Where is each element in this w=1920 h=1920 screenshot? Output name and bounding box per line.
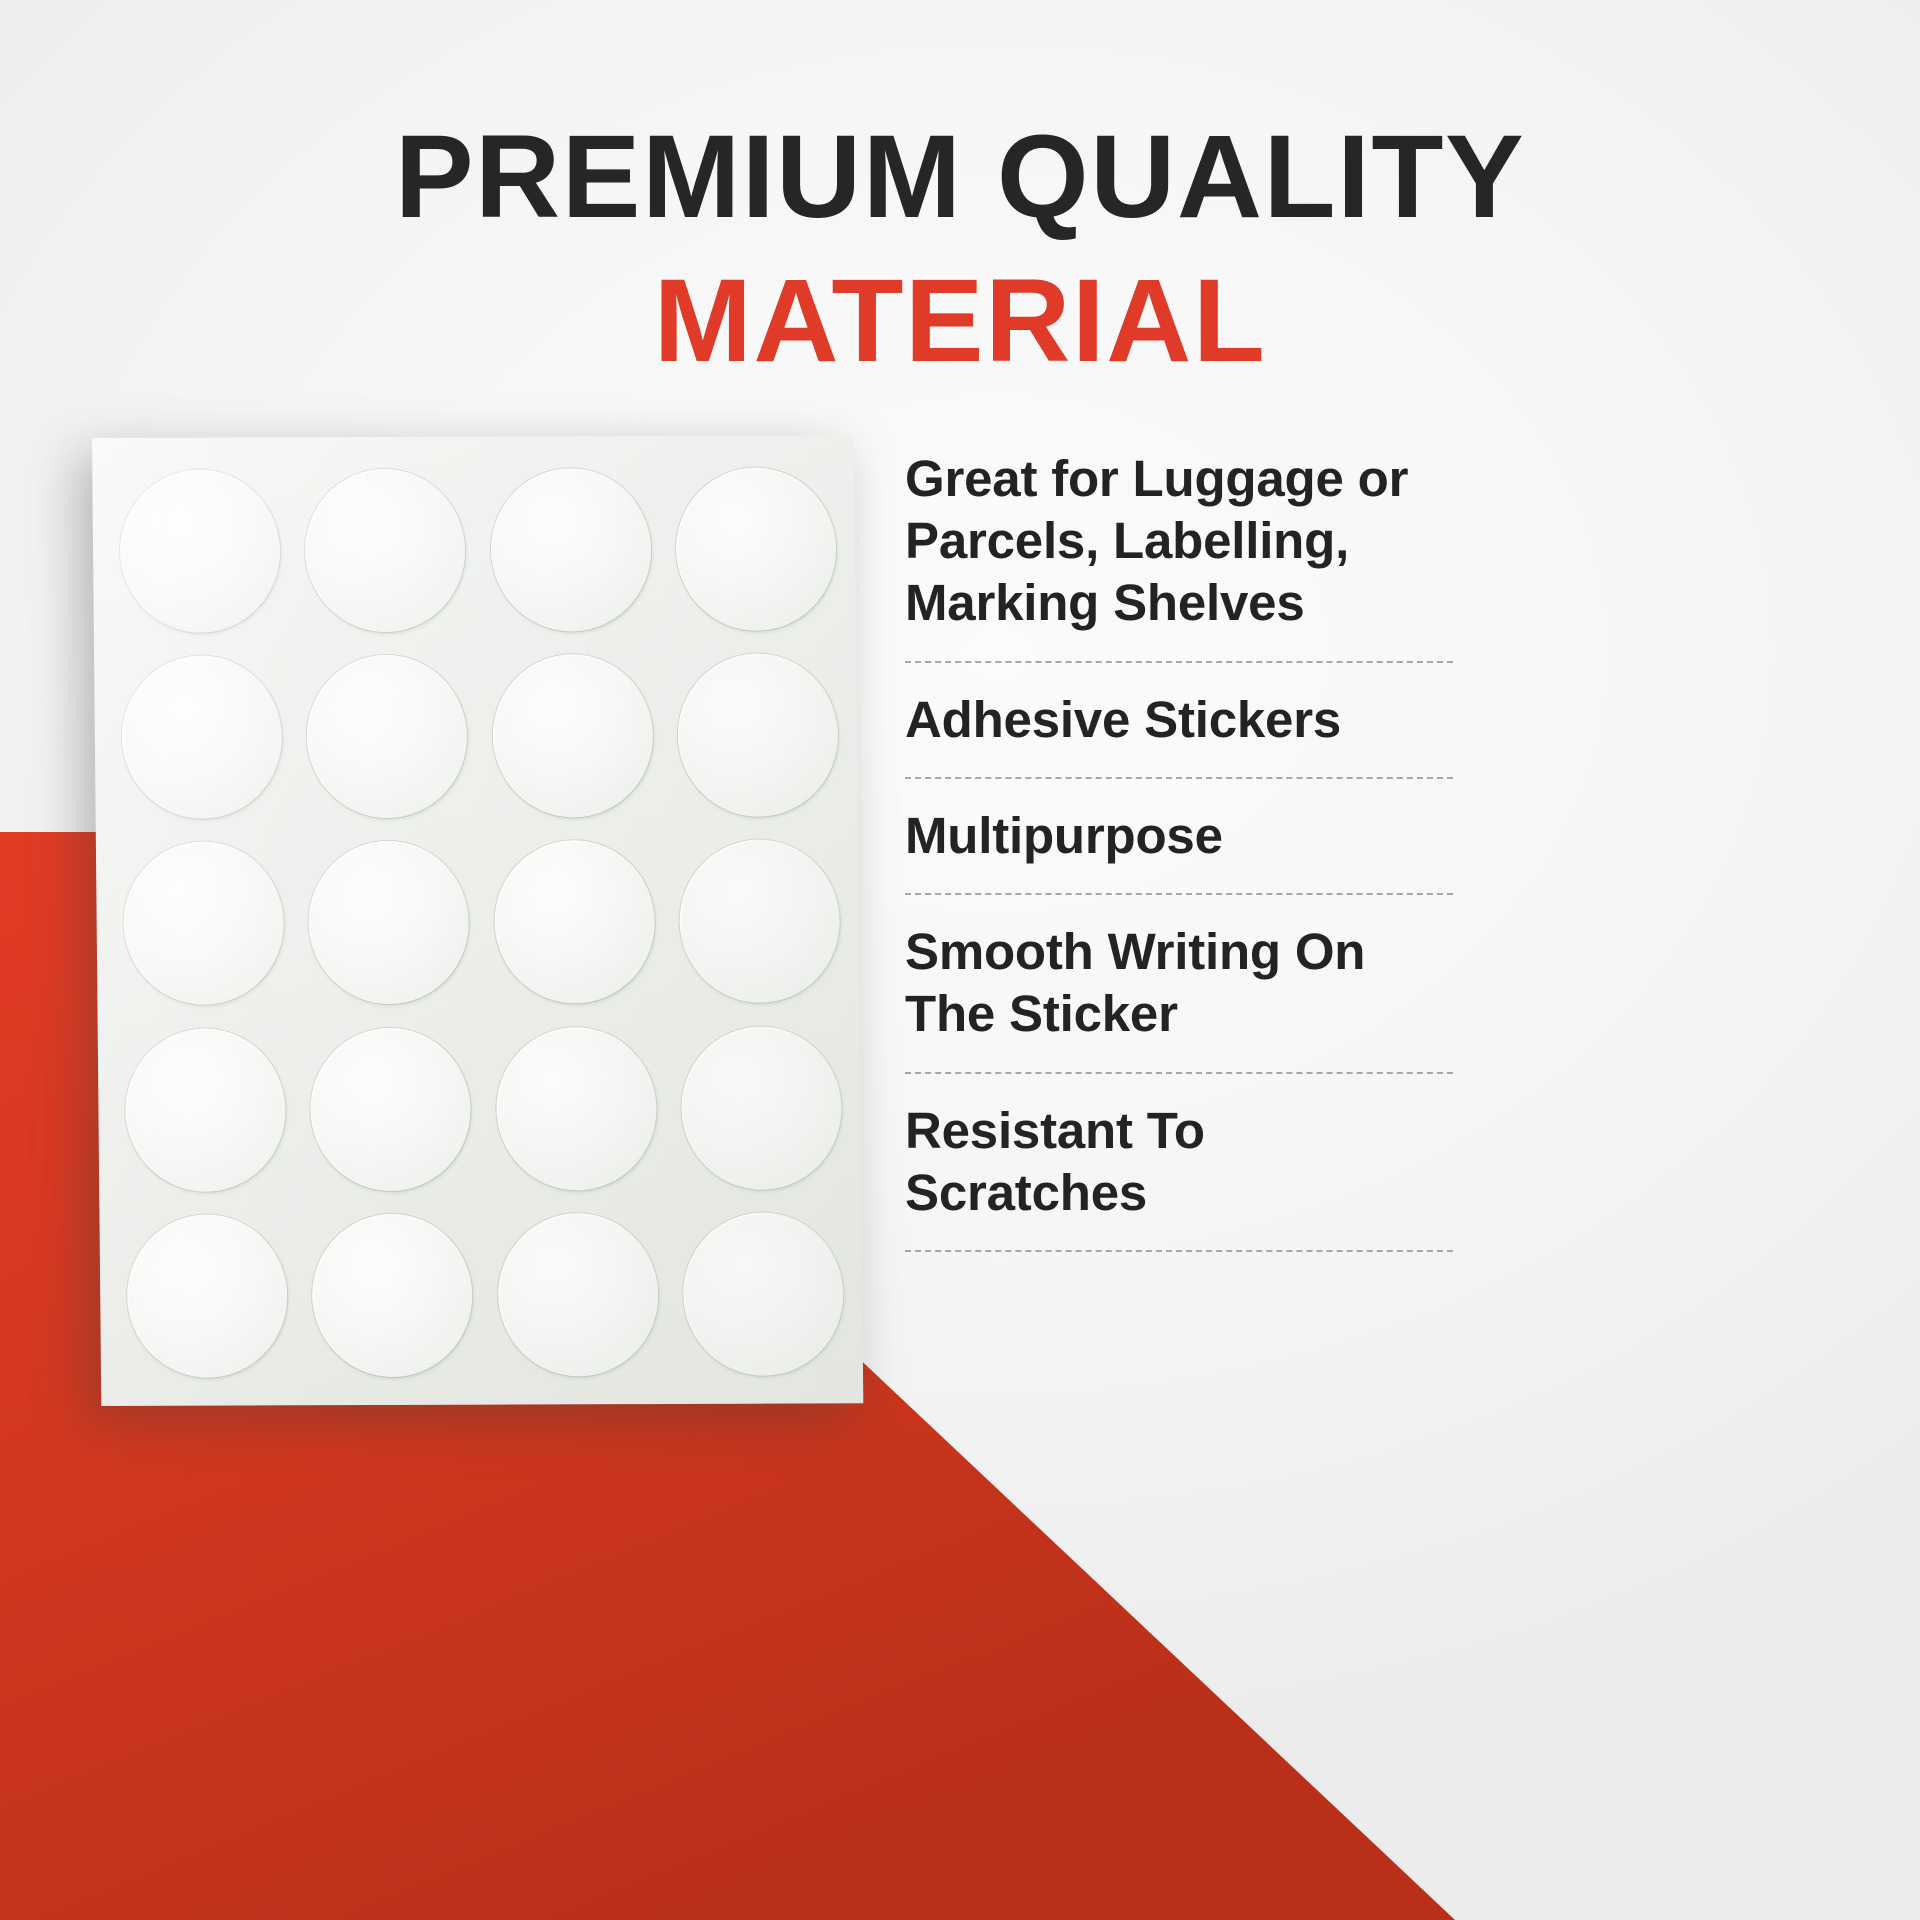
sticker-cell xyxy=(479,642,666,829)
sticker-cell xyxy=(299,1202,486,1389)
sticker-cell xyxy=(481,829,668,1016)
sticker-dot xyxy=(310,1028,472,1192)
feature-list: Great for Luggage or Parcels, Labelling,… xyxy=(905,448,1453,1278)
sticker-cell xyxy=(295,829,482,1016)
feature-item: Great for Luggage or Parcels, Labelling,… xyxy=(905,448,1453,635)
sticker-dot xyxy=(308,841,470,1005)
sticker-dot xyxy=(679,840,841,1004)
sticker-dot xyxy=(490,468,652,632)
sticker-grid xyxy=(92,435,863,1406)
sticker-dot xyxy=(683,1213,845,1377)
feature-separator xyxy=(905,893,1453,895)
sticker-dot xyxy=(677,653,839,817)
sticker-cell xyxy=(477,456,664,643)
sticker-dot xyxy=(492,654,654,818)
sticker-sheet xyxy=(92,435,863,1406)
feature-separator xyxy=(905,777,1453,779)
feature-separator xyxy=(905,661,1453,663)
sticker-dot xyxy=(121,655,283,819)
sticker-cell xyxy=(297,1016,484,1203)
sticker-cell xyxy=(113,1203,300,1390)
sticker-cell xyxy=(112,1016,299,1203)
feature-item: Resistant To Scratches xyxy=(905,1100,1453,1224)
sticker-dot xyxy=(123,842,285,1006)
sticker-dot xyxy=(305,468,467,632)
sticker-dot xyxy=(119,469,281,633)
sticker-cell xyxy=(292,457,479,644)
feature-item: Multipurpose xyxy=(905,805,1453,867)
sticker-cell xyxy=(668,1015,855,1202)
sticker-dot xyxy=(676,467,838,631)
feature-separator xyxy=(905,1072,1453,1074)
sticker-dot xyxy=(495,1027,657,1191)
sticker-dot xyxy=(126,1215,288,1379)
sticker-dot xyxy=(497,1213,659,1377)
sticker-dot xyxy=(312,1214,474,1378)
sticker-cell xyxy=(483,1015,670,1202)
sticker-cell xyxy=(110,830,297,1017)
sticker-cell xyxy=(484,1202,671,1389)
page-title: PREMIUM QUALITY MATERIAL xyxy=(0,118,1920,380)
headline-accent: MATERIAL xyxy=(0,262,1920,380)
sticker-cell xyxy=(664,642,851,829)
sticker-dot xyxy=(124,1028,286,1192)
sticker-cell xyxy=(106,457,293,644)
sticker-dot xyxy=(306,655,468,819)
sticker-cell xyxy=(663,455,850,642)
feature-separator xyxy=(905,1250,1453,1252)
sticker-dot xyxy=(681,1026,843,1190)
feature-item: Smooth Writing On The Sticker xyxy=(905,921,1453,1045)
sticker-cell xyxy=(666,828,853,1015)
sticker-cell xyxy=(670,1201,857,1388)
headline-primary: PREMIUM QUALITY xyxy=(0,118,1920,236)
sticker-dot xyxy=(494,841,656,1005)
sticker-cell xyxy=(293,643,480,830)
infographic-canvas: PREMIUM QUALITY MATERIAL xyxy=(0,0,1920,1920)
feature-item: Adhesive Stickers xyxy=(905,689,1453,751)
product-photo xyxy=(92,438,854,1406)
sticker-cell xyxy=(108,644,295,831)
